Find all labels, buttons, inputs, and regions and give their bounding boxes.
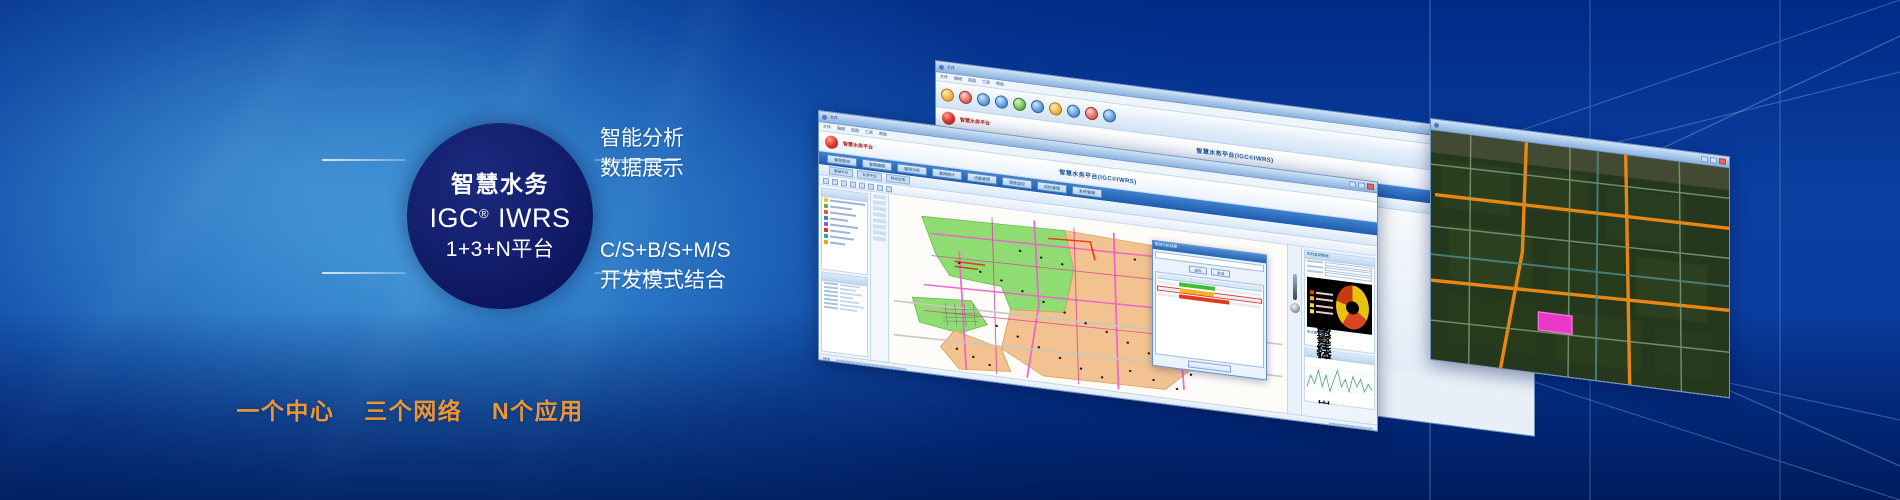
menu-item-file[interactable]: 文件	[823, 124, 831, 131]
layer-panel[interactable]	[819, 185, 871, 360]
toolbox-item[interactable]	[873, 236, 886, 242]
toolbox-item[interactable]	[873, 212, 886, 218]
tool-zoom-out-icon[interactable]	[850, 181, 856, 188]
minimize-icon[interactable]	[1701, 156, 1708, 163]
maximize-icon[interactable]	[1710, 157, 1717, 164]
layer-tree-panel[interactable]	[821, 187, 868, 275]
maximize-icon[interactable]	[1358, 182, 1365, 189]
toolbox-item[interactable]	[873, 194, 886, 200]
app-window-satellite[interactable]	[1430, 118, 1730, 398]
close-icon[interactable]	[1719, 158, 1726, 165]
brand-product-name: IGC ® IWRS	[429, 205, 570, 232]
registered-mark-icon: ®	[479, 207, 489, 220]
ribbon-icon-6[interactable]	[1031, 99, 1044, 114]
connector-line-bottom-right	[594, 272, 678, 274]
attribute-panel[interactable]	[821, 271, 868, 357]
satellite-map-canvas[interactable]	[1431, 130, 1729, 397]
feature-top-right-line1: 智能分析	[600, 124, 684, 154]
map-toolbox-column[interactable]	[871, 192, 889, 362]
menu-item-edit[interactable]: 编辑	[954, 75, 962, 82]
menu-item-tools[interactable]: 工具	[982, 79, 990, 86]
menu-item-tools[interactable]: 工具	[865, 129, 873, 136]
tagline-part-3: N个应用	[492, 398, 584, 424]
window-menu-hint: 文件	[947, 65, 955, 72]
promo-banner: 文件 文件 编辑 视图 工具 帮助	[0, 0, 1900, 500]
pan-pad-icon[interactable]	[1290, 302, 1300, 313]
tool-print-icon[interactable]	[886, 185, 892, 192]
menu-item-view[interactable]: 视图	[851, 127, 859, 134]
ribbon-icon-8[interactable]	[1067, 104, 1080, 119]
ribbon-icon-5[interactable]	[1013, 97, 1026, 112]
ribbon-icon-7[interactable]	[1049, 102, 1062, 117]
sub-tab-0[interactable]: 基础平台	[829, 166, 853, 177]
feature-bottom-right: C/S+B/S+M/S 开发模式结合	[600, 236, 731, 296]
window-controls[interactable]	[1701, 156, 1726, 165]
tool-select-icon[interactable]	[868, 183, 874, 190]
ribbon-icon-1[interactable]	[941, 88, 954, 103]
menu-item-edit[interactable]: 编辑	[837, 125, 845, 132]
window-controls[interactable]	[1349, 181, 1374, 190]
window-dot-icon	[822, 114, 827, 120]
tool-identify-icon[interactable]	[877, 184, 883, 191]
window-menu-hint: 文件	[830, 115, 838, 122]
toolbox-item[interactable]	[873, 230, 886, 236]
tagline: 一个中心 三个网络 N个应用	[0, 392, 820, 426]
sub-tab-2[interactable]: 移动应用	[886, 174, 910, 185]
connector-line-bottom-left	[322, 272, 406, 274]
feature-top-right: 智能分析 数据展示	[600, 124, 684, 184]
minimize-icon[interactable]	[1349, 181, 1356, 188]
toolbox-item[interactable]	[873, 218, 886, 224]
brand-product-iwrs: IWRS	[498, 205, 571, 232]
brand-product-igc: IGC	[429, 205, 479, 232]
toolbox-item[interactable]	[873, 206, 886, 212]
menu-item-file[interactable]: 文件	[940, 74, 948, 81]
dialog-cancel-button[interactable]: 取消	[1211, 268, 1230, 277]
toolbox-item[interactable]	[873, 200, 886, 206]
ribbon-icon-10[interactable]	[1103, 109, 1116, 124]
tagline-part-1: 一个中心	[236, 398, 334, 424]
ribbon-icon-9[interactable]	[1085, 106, 1098, 121]
connector-line-top-left	[322, 159, 406, 161]
ribbon-icon-4[interactable]	[995, 95, 1008, 110]
brand-platform-line: 1+3+N平台	[446, 239, 555, 260]
window-dot-icon	[939, 64, 944, 70]
monitoring-panel[interactable]: 实时监测数据 正常运行 预警状态 报警状态 离线设备	[1304, 249, 1375, 354]
tool-pointer-icon[interactable]	[823, 177, 829, 184]
monitoring-dock[interactable]: 实时监测数据 正常运行 预警状态 报警状态 离线设备	[1301, 247, 1377, 425]
window-dot-icon	[1434, 122, 1439, 128]
brand-cluster: 智慧水务 IGC ® IWRS 1+3+N平台 完全自主 知识产权 以WebGI…	[0, 0, 820, 500]
legend-item: 正常运行	[1310, 289, 1333, 296]
analysis-dialog[interactable]: 管网分析结果 查询 取消	[1152, 239, 1267, 380]
dialog-query-button[interactable]: 查询	[1189, 265, 1208, 274]
tool-zoom-in-icon[interactable]	[841, 179, 847, 186]
brand-circle: 智慧水务 IGC ® IWRS 1+3+N平台	[407, 123, 593, 309]
close-icon[interactable]	[1367, 183, 1374, 190]
tool-measure-icon[interactable]	[859, 182, 865, 189]
status-text: 就绪	[823, 356, 830, 362]
connector-line-top-right	[594, 159, 678, 161]
status-pie-chart	[1336, 283, 1369, 331]
toolbox-item[interactable]	[873, 224, 886, 230]
sparkline-panel[interactable]	[1304, 347, 1375, 410]
dialog-results-table[interactable]	[1155, 271, 1264, 368]
feature-bottom-right-line2: 开发模式结合	[600, 266, 731, 296]
menu-item-help[interactable]: 帮助	[879, 131, 887, 138]
zoom-slider[interactable]	[1293, 274, 1297, 301]
map-navigation-control[interactable]	[1287, 245, 1301, 415]
menu-item-view[interactable]: 视图	[968, 77, 976, 84]
selected-parcel-highlight	[1538, 312, 1572, 334]
ribbon-icon-3[interactable]	[977, 92, 990, 107]
tool-pan-icon[interactable]	[832, 178, 838, 185]
tagline-part-2: 三个网络	[364, 398, 462, 424]
pie-chart-widget[interactable]: 正常运行 预警状态 报警状态 离线设备	[1307, 277, 1372, 335]
ribbon-icon-2[interactable]	[959, 90, 972, 105]
feature-bottom-right-line1: C/S+B/S+M/S	[600, 236, 731, 266]
brand-chinese-title: 智慧水务	[451, 173, 549, 196]
menu-item-help[interactable]: 帮助	[996, 81, 1004, 88]
sub-tab-1[interactable]: 业务平台	[857, 170, 881, 181]
